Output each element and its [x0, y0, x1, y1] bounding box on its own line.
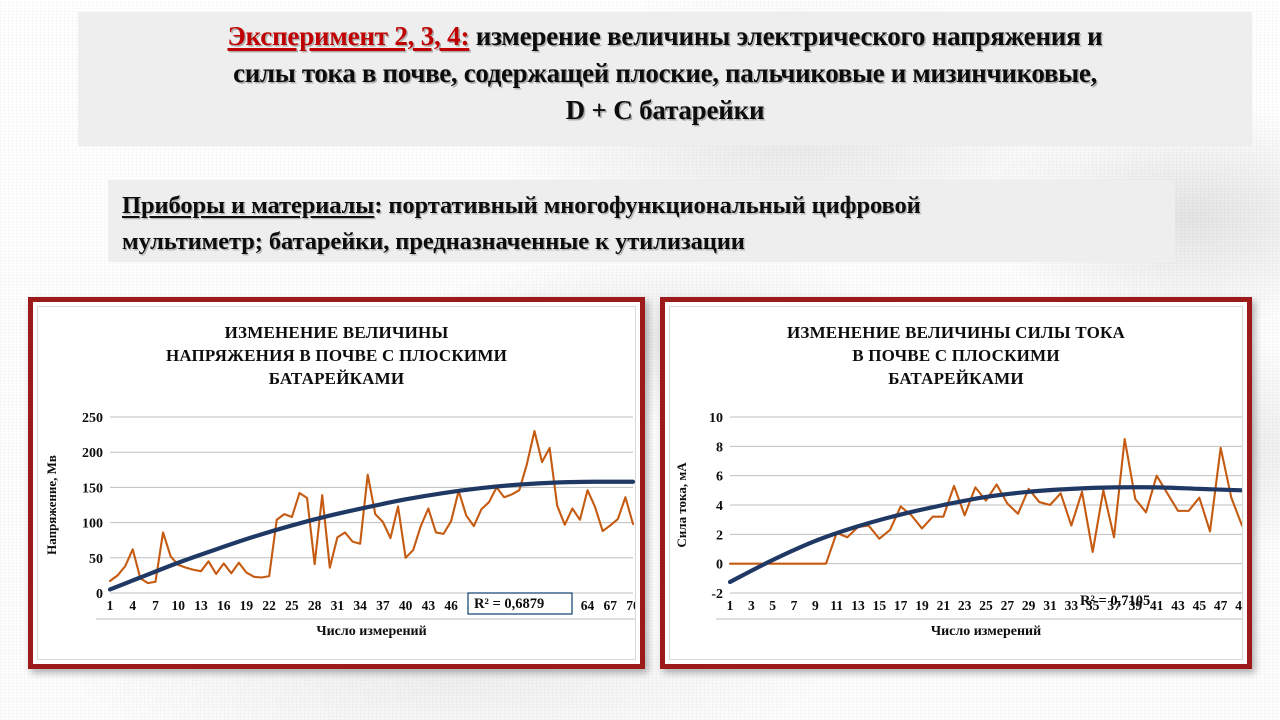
y-axis-tick-label: 100 — [82, 517, 103, 532]
chart-title-voltage-line-2: НАПРЯЖЕНИЯ В ПОЧВЕ С ПЛОСКИМИ — [38, 344, 635, 367]
y-axis-tick-label: 150 — [82, 481, 103, 496]
y-axis-title: Напряжение, Мв — [44, 455, 59, 555]
y-axis-tick-label: -2 — [711, 587, 723, 602]
materials-line-1: Приборы и материалы: портативный многофу… — [122, 188, 1161, 224]
chart-inner-voltage: ИЗМЕНЕНИЕ ВЕЛИЧИНЫ НАПРЯЖЕНИЯ В ПОЧВЕ С … — [37, 306, 636, 660]
x-axis-title: Число измерений — [316, 624, 426, 639]
materials-line-1-rest: : портативный многофункциональный цифров… — [374, 192, 920, 219]
x-axis-tick-label: 70 — [626, 598, 636, 613]
y-axis-tick-label: 2 — [716, 528, 723, 543]
x-axis-tick-label: 34 — [353, 598, 367, 613]
plot-current: -20246810Сила тока, мА135791113151719212… — [670, 403, 1243, 660]
experiment-title-panel: Эксперимент 2, 3, 4: измерение величины … — [78, 12, 1252, 146]
experiment-title-line-3: D + C батарейки — [90, 92, 1240, 129]
x-axis-tick-label: 49 — [1235, 598, 1243, 613]
x-axis-tick-label: 13 — [194, 598, 208, 613]
x-axis-tick-label: 3 — [748, 598, 755, 613]
x-axis-tick-label: 46 — [444, 598, 458, 613]
x-axis-tick-label: 10 — [171, 598, 185, 613]
chart-title-voltage-line-1: ИЗМЕНЕНИЕ ВЕЛИЧИНЫ — [38, 321, 635, 344]
chart-card-current[interactable]: ИЗМЕНЕНИЕ ВЕЛИЧИНЫ СИЛЫ ТОКА В ПОЧВЕ С П… — [660, 297, 1252, 669]
chart-title-voltage-line-3: БАТАРЕЙКАМИ — [38, 367, 635, 390]
y-axis-tick-label: 250 — [82, 411, 103, 426]
experiment-label: Эксперимент 2, 3, 4: — [228, 21, 470, 51]
x-axis-tick-label: 31 — [1043, 598, 1057, 613]
experiment-title-line-1: Эксперимент 2, 3, 4: измерение величины … — [90, 18, 1240, 55]
y-axis-tick-label: 8 — [716, 440, 723, 455]
x-axis-tick-label: 67 — [604, 598, 618, 613]
x-axis-tick-label: 5 — [769, 598, 776, 613]
x-axis-tick-label: 43 — [1171, 598, 1185, 613]
x-axis-title: Число измерений — [931, 624, 1041, 639]
x-axis-tick-label: 19 — [915, 598, 929, 613]
x-axis-tick-label: 25 — [285, 598, 299, 613]
y-axis-tick-label: 200 — [82, 446, 103, 461]
chart-title-current-line-1: ИЗМЕНЕНИЕ ВЕЛИЧИНЫ СИЛЫ ТОКА — [670, 321, 1242, 344]
materials-label: Приборы и материалы — [122, 192, 374, 219]
x-axis-tick-label: 1 — [107, 598, 114, 613]
x-axis-tick-label: 31 — [331, 598, 345, 613]
x-axis-tick-label: 13 — [851, 598, 865, 613]
x-axis-tick-label: 21 — [937, 598, 951, 613]
chart-title-current-line-2: В ПОЧВЕ С ПЛОСКИМИ — [670, 344, 1242, 367]
x-axis-tick-label: 40 — [399, 598, 413, 613]
y-axis-tick-label: 0 — [96, 587, 103, 602]
x-axis-tick-label: 27 — [1001, 598, 1015, 613]
y-axis-tick-label: 4 — [716, 499, 723, 514]
x-axis-tick-label: 23 — [958, 598, 972, 613]
x-axis-tick-label: 9 — [812, 598, 819, 613]
chart-title-voltage: ИЗМЕНЕНИЕ ВЕЛИЧИНЫ НАПРЯЖЕНИЯ В ПОЧВЕ С … — [38, 321, 635, 390]
x-axis-tick-label: 41 — [1150, 598, 1164, 613]
chart-card-voltage[interactable]: ИЗМЕНЕНИЕ ВЕЛИЧИНЫ НАПРЯЖЕНИЯ В ПОЧВЕ С … — [28, 297, 645, 669]
chart-inner-current: ИЗМЕНЕНИЕ ВЕЛИЧИНЫ СИЛЫ ТОКА В ПОЧВЕ С П… — [669, 306, 1243, 660]
x-axis-tick-label: 11 — [830, 598, 843, 613]
materials-line-2: мультиметр; батарейки, предназначенные к… — [122, 224, 1161, 260]
y-axis-tick-label: 0 — [716, 558, 723, 573]
y-axis-tick-label: 6 — [716, 470, 723, 485]
x-axis-tick-label: 17 — [894, 598, 908, 613]
x-axis-tick-label: 15 — [873, 598, 887, 613]
x-axis-tick-label: 19 — [240, 598, 254, 613]
x-axis-tick-label: 1 — [727, 598, 734, 613]
x-axis-tick-label: 29 — [1022, 598, 1036, 613]
materials-panel: Приборы и материалы: портативный многофу… — [108, 180, 1175, 262]
x-axis-tick-label: 22 — [262, 598, 276, 613]
chart-title-current: ИЗМЕНЕНИЕ ВЕЛИЧИНЫ СИЛЫ ТОКА В ПОЧВЕ С П… — [670, 321, 1242, 390]
y-axis-tick-label: 10 — [709, 411, 723, 426]
x-axis-tick-label: 64 — [581, 598, 595, 613]
x-axis-tick-label: 7 — [791, 598, 798, 613]
x-axis-tick-label: 37 — [376, 598, 390, 613]
y-axis-title: Сила тока, мА — [674, 462, 689, 548]
x-axis-tick-label: 16 — [217, 598, 231, 613]
experiment-title-rest: измерение величины электрического напряж… — [469, 21, 1102, 51]
x-axis-tick-label: 4 — [129, 598, 136, 613]
x-axis-tick-label: 43 — [422, 598, 436, 613]
x-axis-tick-label: 25 — [979, 598, 993, 613]
r-squared-label: R² = 0,7105 — [1080, 593, 1150, 609]
y-axis-tick-label: 50 — [89, 552, 103, 567]
x-axis-tick-label: 45 — [1193, 598, 1207, 613]
chart-title-current-line-3: БАТАРЕЙКАМИ — [670, 367, 1242, 390]
x-axis-tick-label: 28 — [308, 598, 322, 613]
x-axis-tick-label: 47 — [1214, 598, 1228, 613]
experiment-title-line-2: силы тока в почве, содержащей плоские, п… — [90, 55, 1240, 92]
r-squared-label: R² = 0,6879 — [474, 596, 544, 612]
x-axis-tick-label: 33 — [1065, 598, 1079, 613]
plot-voltage: 050100150200250Напряжение, Мв14710131619… — [38, 403, 636, 660]
x-axis-tick-label: 7 — [152, 598, 159, 613]
